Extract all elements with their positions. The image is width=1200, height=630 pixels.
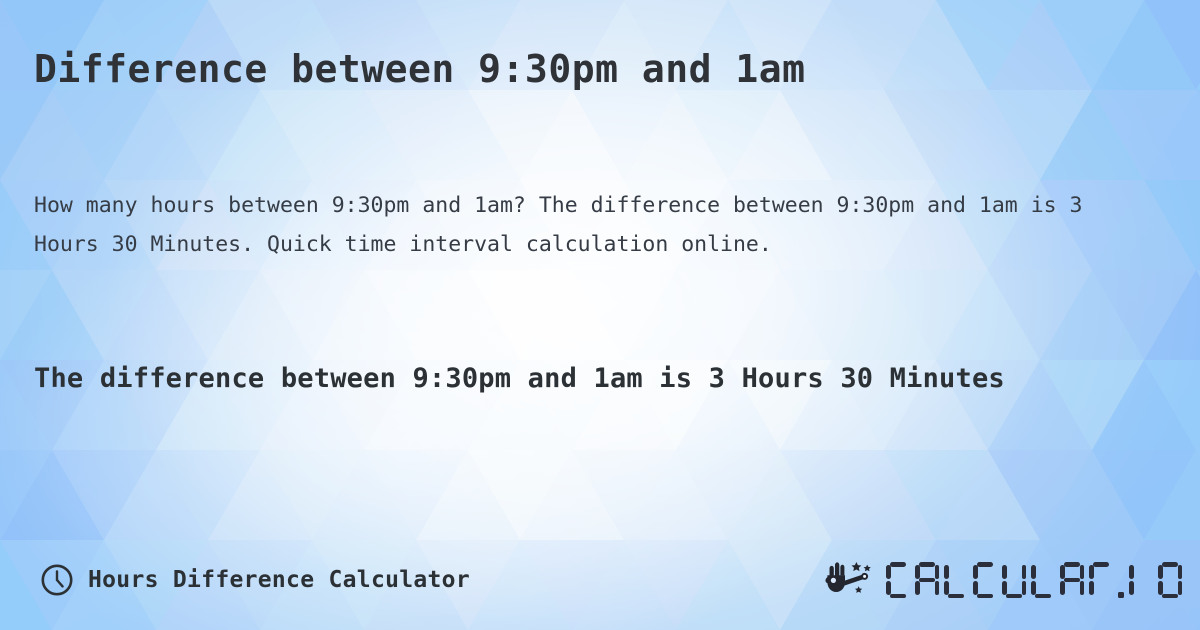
footer-brand: Hours Difference Calculator (40, 552, 470, 608)
logo-text (886, 559, 1182, 601)
logo-char-l (1031, 562, 1055, 598)
clock-icon (40, 563, 74, 597)
logo-char-c (886, 562, 910, 598)
logo-char-l (944, 562, 968, 598)
site-logo[interactable] (823, 552, 1182, 608)
share-card: Difference between 9:30pm and 1am How ma… (0, 0, 1200, 630)
logo-char-u (1002, 562, 1026, 598)
logo-char-i (1129, 562, 1153, 598)
logo-dot (1118, 592, 1124, 598)
result-heading: The difference between 9:30pm and 1am is… (34, 355, 1094, 403)
magic-wand-hand-icon (823, 559, 877, 601)
intro-paragraph: How many hours between 9:30pm and 1am? T… (34, 186, 1114, 264)
logo-char-c (973, 562, 997, 598)
logo-char-a (915, 562, 939, 598)
logo-char-t (1089, 562, 1113, 598)
page-title: Difference between 9:30pm and 1am (34, 46, 1174, 92)
logo-char-a (1060, 562, 1084, 598)
footer-label: Hours Difference Calculator (88, 567, 470, 593)
logo-char-o (1158, 562, 1182, 598)
footer: Hours Difference Calculator (0, 552, 1200, 608)
